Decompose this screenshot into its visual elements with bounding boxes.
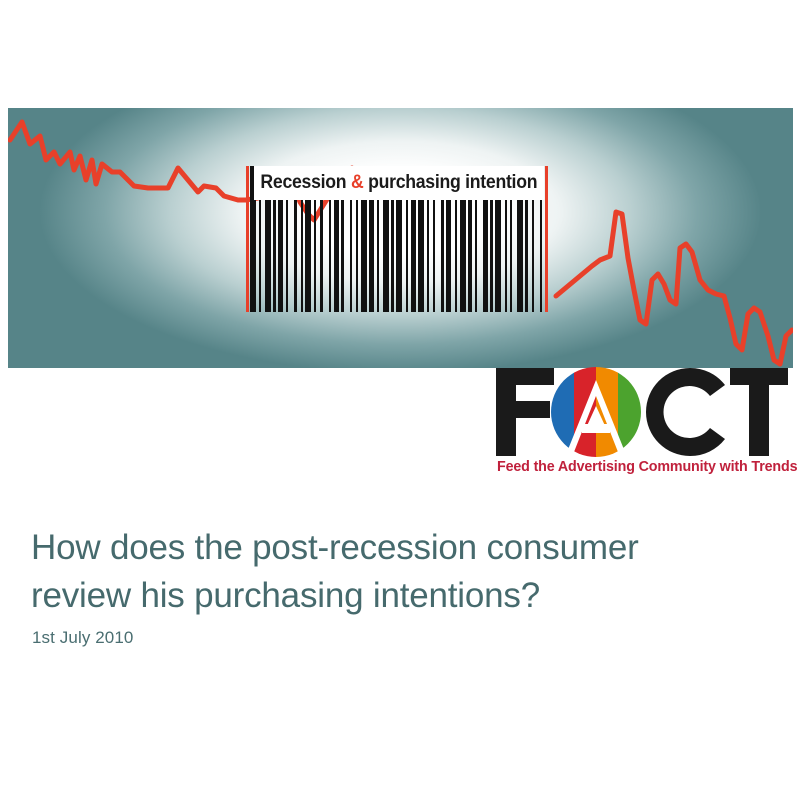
slide-date: 1st July 2010 <box>32 628 133 648</box>
fact-logo: Feed the Advertising Community with Tren… <box>494 366 790 484</box>
page-title-line-2: review his purchasing intentions? <box>31 572 761 620</box>
logo-letter-a-colorwheel <box>551 367 641 457</box>
barcode-title-text: Recession & purchasing intention <box>261 172 538 194</box>
hero-banner: Recession & purchasing intention <box>8 108 793 368</box>
logo-letter-f <box>496 368 554 456</box>
logo-tagline: Feed the Advertising Community with Tren… <box>497 459 786 475</box>
barcode-title-plate: Recession & purchasing intention <box>254 166 544 200</box>
barcode-title-ampersand: & <box>351 172 363 193</box>
trendline-right <box>556 212 792 364</box>
barcode-title-word2: purchasing intention <box>368 172 537 193</box>
barcode-graphic: Recession & purchasing intention <box>246 166 548 312</box>
page-title: How does the post-recession consumer rev… <box>31 524 761 620</box>
barcode-title-word1: Recession <box>261 172 347 193</box>
barcode-edge-left-red <box>246 166 249 312</box>
title-slide: Recession & purchasing intention <box>0 0 800 800</box>
page-title-line-1: How does the post-recession consumer <box>31 524 761 572</box>
logo-letter-c <box>646 368 725 456</box>
logo-letter-t <box>730 368 788 456</box>
fact-wordmark-graphic <box>494 366 790 458</box>
barcode-edge-right-red <box>545 166 548 312</box>
